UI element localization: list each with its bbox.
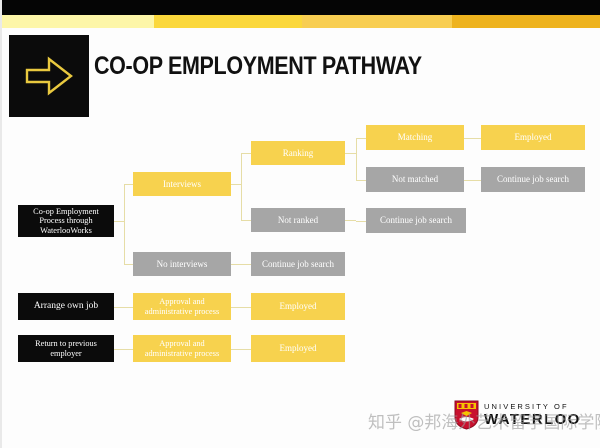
connector-start-to-interviews [124,184,133,185]
slide-canvas: CO-OP EMPLOYMENT PATHWAY Co-op Employmen… [0,0,600,448]
connector-ranking-stub [345,153,356,154]
university-logo: UNIVERSITY OF WATERLOO [454,400,581,430]
connector-ranking-spine [356,138,357,180]
connector-arrange-to-approval-and-administrative-process [124,307,133,308]
connector-interviews-to-not-ranked [241,220,251,221]
flow-node-cjs-2: Continue job search [366,208,466,233]
flow-node-return: Return to previous employer [18,335,114,362]
connector-no-interviews-to-continue-job-search [241,264,251,265]
flow-node-approval-1: Approval and administrative process [133,293,231,320]
connector-arrange-stub [114,307,124,308]
connector-approval-1-stub [231,307,241,308]
connector-interviews-stub [231,184,241,185]
connector-ranking-to-matching [356,138,366,139]
flow-node-no-interviews: No interviews [133,252,231,276]
connector-not-matched-stub [464,180,473,181]
flow-node-arrange: Arrange own job [18,293,114,320]
flow-node-approval-2: Approval and administrative process [133,335,231,362]
connector-interviews-to-ranking [241,153,251,154]
university-line2: WATERLOO [484,412,581,427]
connector-start-spine [124,184,125,264]
connector-matching-stub [464,138,473,139]
connector-no-interviews-stub [231,264,241,265]
connector-ranking-to-not-matched [356,180,366,181]
flow-node-employed-1: Employed [481,125,585,150]
connector-approval-1-to-employed [241,307,251,308]
connector-start-stub [114,221,124,222]
connector-not-matched-to-continue-job-search [473,180,481,181]
flow-node-ranking: Ranking [251,141,345,165]
flow-node-cjs-1: Continue job search [251,252,345,276]
connector-interviews-spine [241,153,242,220]
flow-node-matching: Matching [366,125,464,150]
connector-matching-to-employed [473,138,481,139]
university-line1: UNIVERSITY OF [484,403,581,411]
flow-node-employed-2: Employed [251,293,345,320]
flowchart: Co-op Employment Process through Waterlo… [2,0,600,448]
flow-node-start: Co-op Employment Process through Waterlo… [18,205,114,237]
waterloo-shield-icon [454,400,479,430]
flow-node-interviews: Interviews [133,172,231,196]
flow-node-not-matched: Not matched [366,167,464,192]
connector-not-ranked-stub [345,220,356,221]
connector-return-stub [114,349,124,350]
connector-approval-2-to-employed [241,349,251,350]
university-wordmark: UNIVERSITY OF WATERLOO [484,403,581,427]
connector-start-to-no-interviews [124,264,133,265]
flow-node-cjs-3: Continue job search [481,167,585,192]
connector-approval-2-stub [231,349,241,350]
flow-node-not-ranked: Not ranked [251,208,345,232]
connector-not-ranked-to-continue-job-search [356,221,366,222]
flow-node-employed-3: Employed [251,335,345,362]
connector-return-to-approval-and-administrative-process [124,349,133,350]
